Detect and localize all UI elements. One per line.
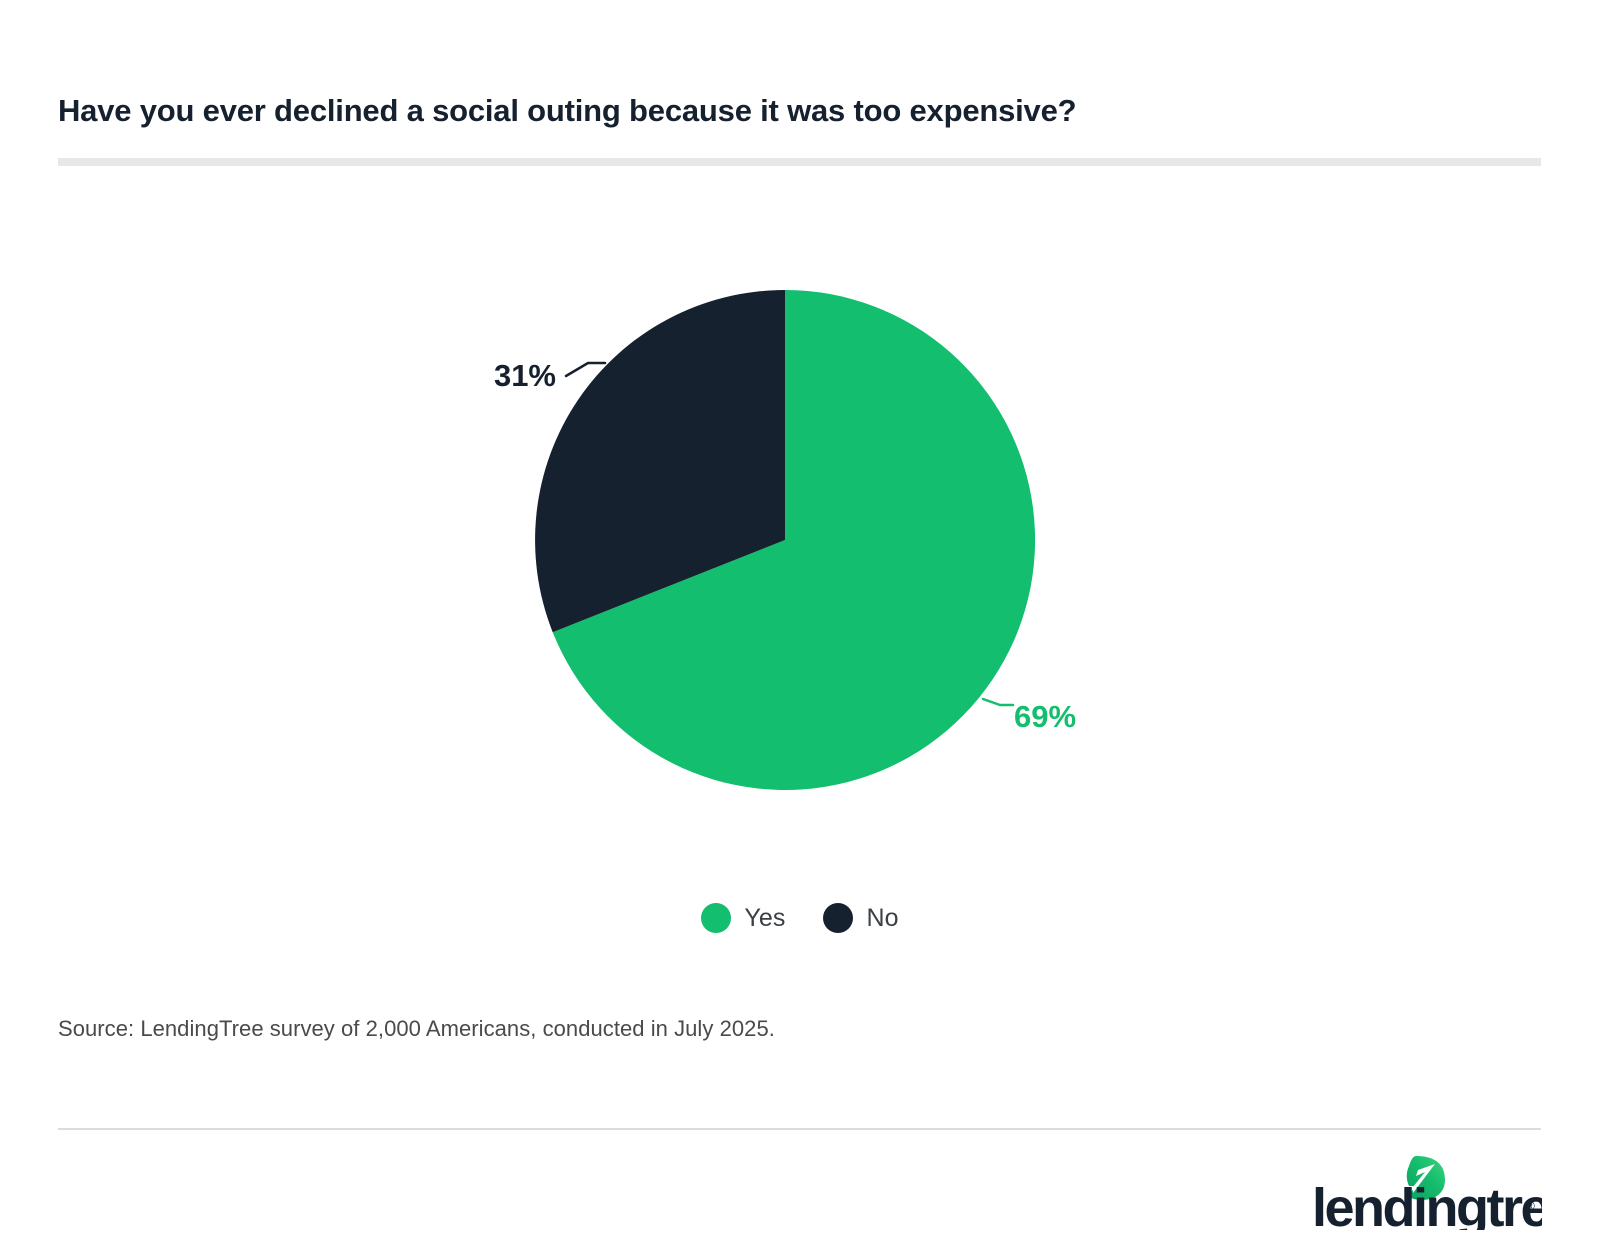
logo-svg: lendingtree ® (1312, 1150, 1542, 1230)
legend-swatch-yes-icon (701, 903, 731, 933)
logo-registered-icon: ® (1526, 1199, 1535, 1213)
lendingtree-logo[interactable]: lendingtree ® (1312, 1150, 1542, 1230)
title-divider (58, 158, 1541, 166)
legend-item-yes[interactable]: Yes (701, 903, 785, 933)
chart-page: Have you ever declined a social outing b… (0, 0, 1600, 1254)
legend-label-yes: Yes (744, 904, 785, 933)
footer-divider (58, 1128, 1541, 1130)
leader-line-yes (983, 699, 1013, 705)
page-title: Have you ever declined a social outing b… (58, 92, 1548, 129)
slice-label-yes: 69% (1014, 699, 1076, 734)
legend-label-no: No (866, 904, 898, 933)
chart-legend: Yes No (0, 903, 1600, 933)
source-note: Source: LendingTree survey of 2,000 Amer… (58, 1016, 775, 1042)
slice-label-no: 31% (494, 358, 556, 393)
legend-swatch-no-icon (823, 903, 853, 933)
pie-chart-area: 31% 69% (0, 180, 1600, 880)
pie-chart-svg: 31% 69% (0, 180, 1600, 880)
legend-item-no[interactable]: No (823, 903, 898, 933)
logo-wordmark: lendingtree (1312, 1178, 1542, 1230)
